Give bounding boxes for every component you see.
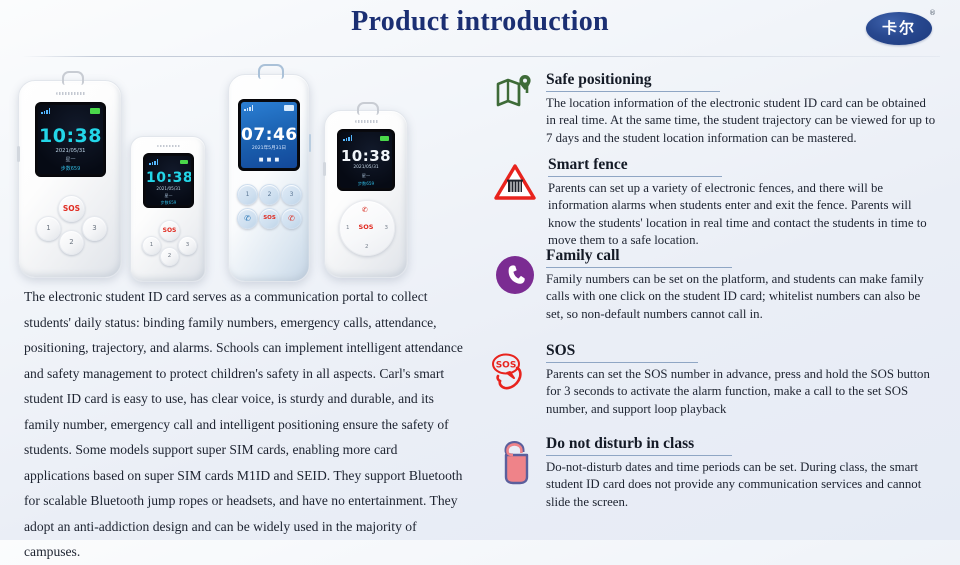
device-key-1[interactable]: 1 [142, 236, 161, 255]
feature-text: The location information of the electron… [546, 95, 938, 147]
device-screen-content: 10:38 2021/05/31 星一 步数659 [340, 132, 392, 188]
device-key-2[interactable]: 2 [259, 184, 280, 205]
device-weekday: 星一 [38, 158, 103, 163]
device-key-1[interactable]: 1 [237, 184, 258, 205]
device-clock: 10:38 [340, 149, 392, 164]
device-student-id-card-large-white: 10:38 2021/05/31 星一 步数659 SOS 1 2 3 [18, 80, 122, 278]
device-key-3[interactable]: 3 [281, 184, 302, 205]
feature-underline [546, 267, 732, 268]
device-key-2[interactable]: 2 [59, 230, 84, 255]
feature-item-sos: SOS SOS Parents can set the SOS number i… [492, 341, 938, 431]
device-student-id-card-round-keypad: 10:38 2021/05/31 星一 步数659 ✆ 1 3 2 SOS [324, 110, 408, 278]
device-clock: 10:38 [38, 127, 103, 146]
device-speaker-grille [56, 92, 86, 95]
feature-body: Family call Family numbers can be set on… [546, 246, 938, 323]
device-screen: 07:46 2021年5月31日 ■ ■ ■ [238, 99, 300, 171]
feature-body: Safe positioning The location informatio… [546, 70, 938, 147]
device-date: 2021年5月31日 [241, 147, 297, 152]
device-status-bar [41, 107, 100, 115]
device-side-button[interactable] [323, 162, 326, 176]
device-lanyard [258, 64, 284, 79]
device-sos-button[interactable]: SOS [58, 195, 85, 222]
feature-text: Parents can set up a variety of electron… [548, 180, 938, 250]
device-student-id-card-blue-accent: 07:46 2021年5月31日 ■ ■ ■ 1 2 3 ✆ SOS ✆ [228, 74, 310, 282]
device-key-3[interactable]: 3 [178, 236, 197, 255]
feature-list: Safe positioning The location informatio… [492, 70, 938, 521]
device-steps: 步数659 [146, 201, 191, 205]
feature-title: Smart fence [548, 155, 938, 174]
device-side-button[interactable] [17, 146, 20, 162]
device-speaker-grille [355, 120, 379, 123]
device-screen-content: 10:38 2021/05/31 星一 步数659 [38, 105, 103, 174]
feature-body: Smart fence Parents can set up a variety… [548, 155, 938, 250]
page-title: Product introduction [0, 6, 960, 38]
phone-handset-circle-icon [492, 252, 538, 298]
device-weekday: 星一 [340, 174, 392, 178]
slide-root: Product introduction 卡尔 ® 10:38 2021/05/… [0, 0, 960, 540]
device-key-3[interactable]: 3 [385, 225, 389, 231]
device-hangup-button[interactable]: ✆ [281, 208, 302, 229]
device-key-2[interactable]: 2 [365, 244, 369, 250]
device-side-button[interactable] [309, 134, 312, 152]
device-status-bar [343, 134, 389, 142]
device-brand-mark [259, 87, 279, 93]
device-sos-button[interactable]: SOS [355, 216, 377, 238]
svg-text:SOS: SOS [496, 361, 517, 371]
trademark-symbol: ® [929, 9, 936, 17]
signal-icon [343, 135, 352, 141]
device-lanyard [62, 71, 84, 85]
device-clock: 07:46 [241, 127, 297, 144]
feature-item-smart-fence: Smart fence Parents can set up a variety… [492, 155, 938, 243]
device-status-bar [149, 158, 188, 166]
device-clock: 10:38 [146, 171, 191, 185]
feature-underline [546, 91, 720, 92]
product-description-paragraph: The electronic student ID card serves as… [24, 284, 464, 565]
device-steps: 步数659 [38, 167, 103, 172]
device-date: 2021/05/31 [146, 187, 191, 191]
signal-icon [41, 108, 50, 114]
device-sos-button[interactable]: SOS [159, 220, 180, 241]
header-divider [22, 56, 940, 57]
device-steps: 步数659 [340, 182, 392, 186]
product-device-images: 10:38 2021/05/31 星一 步数659 SOS 1 2 3 [0, 60, 480, 285]
signal-icon [149, 159, 158, 165]
feature-title: Safe positioning [546, 70, 938, 89]
feature-text: Do-not-disturb dates and time periods ca… [546, 459, 938, 511]
device-student-id-card-small-white: 10:38 2021/05/31 星一 步数659 SOS 1 2 3 [130, 136, 206, 282]
feature-title: SOS [546, 341, 938, 360]
feature-underline [548, 176, 722, 177]
feature-title: Family call [546, 246, 938, 265]
device-screen-content: 10:38 2021/05/31 星一 步数659 [146, 156, 191, 205]
warning-triangle-fence-icon [492, 159, 538, 205]
feature-text: Parents can set the SOS number in advanc… [546, 366, 938, 418]
door-hanger-icon [496, 440, 542, 486]
device-screen: 10:38 2021/05/31 星一 步数659 [35, 102, 106, 177]
device-date: 2021/05/31 [340, 166, 392, 170]
feature-item-family-call: Family call Family numbers can be set on… [492, 246, 938, 338]
device-app-row: ■ ■ ■ [241, 158, 297, 163]
battery-icon [380, 136, 389, 141]
battery-icon [180, 160, 188, 165]
feature-body: Do not disturb in class Do-not-disturb d… [546, 434, 938, 511]
feature-item-safe-positioning: Safe positioning The location informatio… [492, 70, 938, 152]
device-key-1[interactable]: 1 [36, 216, 61, 241]
map-pin-icon [492, 70, 538, 116]
brand-logo: 卡尔 [866, 12, 932, 45]
device-key-1[interactable]: 1 [346, 225, 350, 231]
signal-icon [244, 105, 253, 111]
device-hangup-button[interactable]: ✆ [362, 206, 368, 214]
device-key-3[interactable]: 3 [82, 216, 107, 241]
device-call-button[interactable]: ✆ [237, 208, 258, 229]
device-date: 2021/05/31 [38, 149, 103, 154]
device-weekday: 星一 [146, 194, 191, 198]
feature-underline [546, 362, 698, 363]
device-screen-content: 07:46 2021年5月31日 ■ ■ ■ [241, 102, 297, 168]
feature-item-do-not-disturb: Do not disturb in class Do-not-disturb d… [492, 434, 938, 518]
device-screen: 10:38 2021/05/31 星一 步数659 [337, 129, 395, 191]
device-screen: 10:38 2021/05/31 星一 步数659 [143, 153, 194, 208]
device-status-bar [244, 104, 294, 112]
device-sos-button[interactable]: SOS [259, 208, 280, 229]
feature-body: SOS Parents can set the SOS number in ad… [546, 341, 938, 418]
battery-icon [284, 105, 294, 111]
brand-logo-text: 卡尔 [882, 21, 916, 36]
battery-icon [90, 108, 100, 114]
feature-title: Do not disturb in class [546, 434, 938, 453]
feature-text: Family numbers can be set on the platfor… [546, 271, 938, 323]
feature-underline [546, 455, 732, 456]
device-lanyard [357, 102, 379, 115]
sos-phone-icon: SOS [490, 349, 536, 395]
device-key-2[interactable]: 2 [160, 247, 179, 266]
